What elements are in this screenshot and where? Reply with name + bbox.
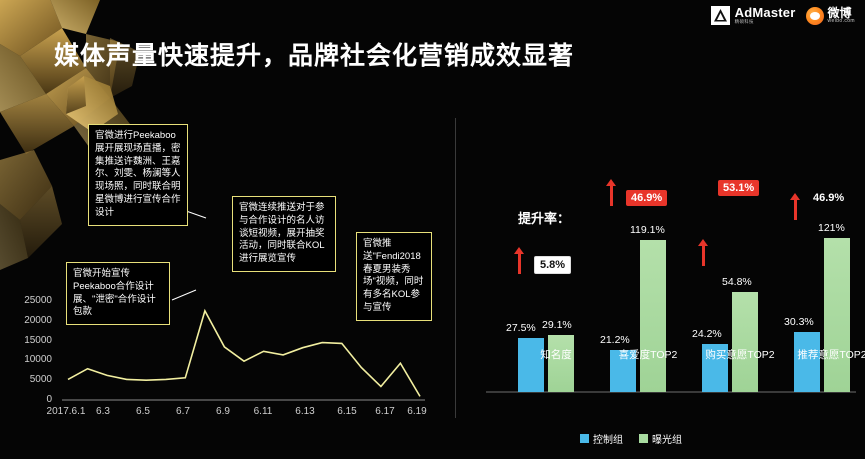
page-title: 媒体声量快速提升，品牌社会化营销成效显著 (54, 36, 574, 72)
callout-fendi2018: 官微推送"Fendi2018春夏男装秀场"视频，同时有多名KOL参与宣传 (356, 232, 432, 321)
weibo-logo: 微博 weibo.com (806, 7, 856, 25)
x-tick-8: 6.17 (368, 406, 402, 417)
lift-badge-知名度: 5.8% (534, 256, 571, 274)
legend-item-曝光组: 曝光组 (639, 431, 682, 446)
lift-arrow-head-推荐意愿TOP2 (790, 193, 800, 200)
bar-value-曝光组-推荐意愿TOP2: 121% (818, 222, 845, 234)
x-tick-6: 6.13 (288, 406, 322, 417)
bar-曝光组-推荐意愿TOP2 (824, 238, 850, 392)
lift-badge-喜爱度TOP2: 46.9% (626, 190, 667, 206)
vertical-divider (455, 118, 456, 418)
bar-chart: 提升率： 27.5% 29.1% 5.8% 知名度 21.2% 119.1% 4… (456, 118, 865, 448)
admaster-logo: AdMaster 精硕科技 (711, 6, 796, 25)
x-tick-0: 2017.6.1 (36, 406, 96, 417)
callout-celebrity-interview: 官微连续推送对于参与合作设计的名人访谈短视频，展开抽奖活动，同时联合KOL进行展… (232, 196, 336, 272)
legend-label-曝光组: 曝光组 (652, 431, 682, 446)
bar-value-曝光组-喜爱度TOP2: 119.1% (630, 224, 665, 236)
callout-campaign-start: 官微开始宣传Peekaboo合作设计展、"泄密"合作设计包款 (66, 262, 170, 325)
lift-arrow-head-知名度 (514, 247, 524, 254)
lift-badge-购买意愿TOP2: 53.1% (718, 180, 759, 196)
lift-arrow-stem-喜爱度TOP2 (610, 184, 613, 206)
bar-value-控制组-喜爱度TOP2: 21.2% (600, 334, 630, 346)
bar-控制组-推荐意愿TOP2 (794, 332, 820, 392)
y-tick-15000: 15000 (2, 335, 52, 346)
legend-swatch-曝光组 (639, 434, 648, 443)
y-tick-5000: 5000 (2, 374, 52, 385)
y-tick-10000: 10000 (2, 354, 52, 365)
y-tick-20000: 20000 (2, 315, 52, 326)
bar-曝光组-喜爱度TOP2 (640, 240, 666, 392)
legend-item-控制组: 控制组 (580, 431, 623, 446)
admaster-mark-icon (711, 6, 730, 25)
brand-bar: AdMaster 精硕科技 微博 weibo.com (711, 6, 855, 25)
weibo-sub: weibo.com (828, 19, 856, 24)
bar-chart-legend: 控制组 曝光组 (580, 431, 682, 446)
x-tick-5: 6.11 (246, 406, 280, 417)
x-tick-2: 6.5 (128, 406, 158, 417)
admaster-sub: 精硕科技 (735, 20, 796, 25)
x-tick-7: 6.15 (330, 406, 364, 417)
y-tick-0: 0 (2, 394, 52, 405)
x-tick-3: 6.7 (168, 406, 198, 417)
y-tick-25000: 25000 (2, 295, 52, 306)
x-tick-1: 6.3 (88, 406, 118, 417)
lift-arrow-head-购买意愿TOP2 (698, 239, 708, 246)
slide-root: AdMaster 精硕科技 微博 weibo.com 媒体声量快速提升，品牌社会… (0, 0, 865, 459)
bar-value-曝光组-购买意愿TOP2: 54.8% (722, 276, 752, 288)
x-tick-9: 6.19 (400, 406, 434, 417)
bar-group-label-推荐意愿TOP2: 推荐意愿TOP2 (772, 347, 865, 362)
bar-value-控制组-知名度: 27.5% (506, 322, 536, 334)
admaster-wordmark: AdMaster 精硕科技 (735, 6, 796, 25)
legend-label-控制组: 控制组 (593, 431, 623, 446)
lift-arrow-stem-推荐意愿TOP2 (794, 198, 797, 220)
admaster-name: AdMaster (735, 6, 796, 19)
x-tick-4: 6.9 (208, 406, 238, 417)
weibo-eye-icon (806, 7, 824, 25)
bar-value-控制组-购买意愿TOP2: 24.2% (692, 328, 722, 340)
bar-value-曝光组-知名度: 29.1% (542, 319, 572, 331)
legend-swatch-控制组 (580, 434, 589, 443)
lift-arrow-stem-知名度 (518, 252, 521, 274)
callout-peekaboo-live: 官微进行Peekaboo展开展现场直播，密集推送许魏洲、王嘉尔、刘雯、杨澜等人现… (88, 124, 188, 226)
lift-badge-推荐意愿TOP2: 46.9% (808, 190, 849, 206)
lift-arrow-stem-购买意愿TOP2 (702, 244, 705, 266)
lift-arrow-head-喜爱度TOP2 (606, 179, 616, 186)
lift-rate-label: 提升率： (518, 208, 570, 227)
weibo-wordmark: 微博 weibo.com (828, 7, 856, 25)
bar-曝光组-知名度 (548, 335, 574, 392)
bar-value-控制组-推荐意愿TOP2: 30.3% (784, 316, 814, 328)
bar-曝光组-购买意愿TOP2 (732, 292, 758, 392)
